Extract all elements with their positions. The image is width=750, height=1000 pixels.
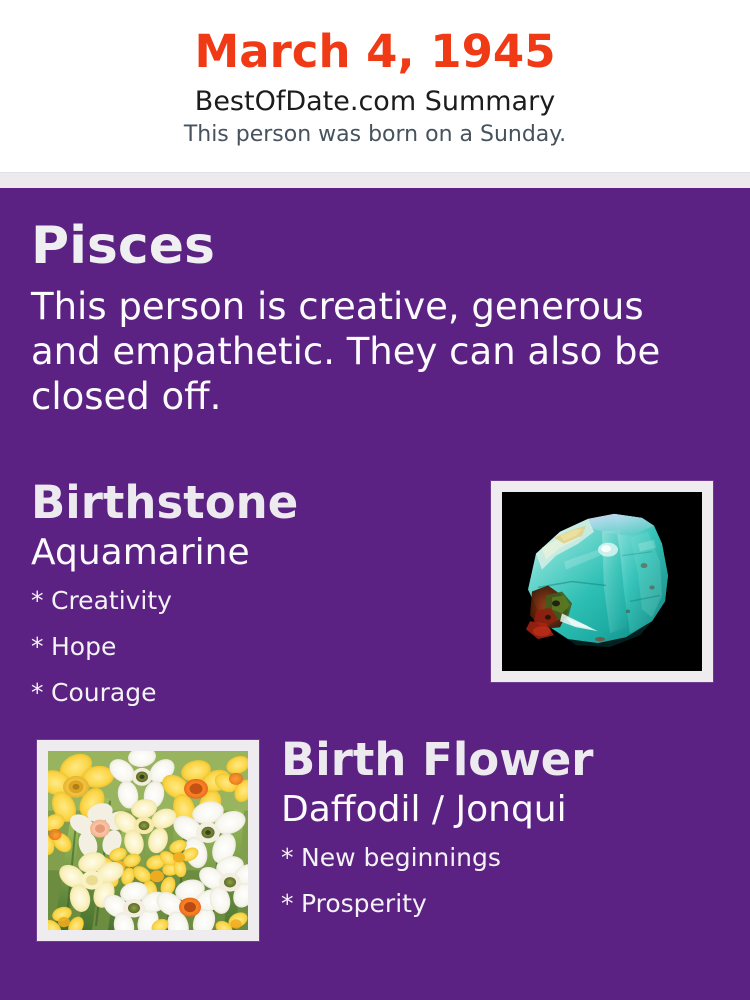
bullet-marker-icon: *	[31, 624, 51, 670]
list-item: *Hope	[31, 624, 481, 670]
page-title: March 4, 1945	[0, 0, 750, 79]
birth-day-note: This person was born on a Sunday.	[0, 118, 750, 149]
bullet-marker-icon: *	[31, 578, 51, 624]
summary-card: March 4, 1945 BestOfDate.com Summary Thi…	[0, 0, 750, 1000]
list-item: *Creativity	[31, 578, 481, 624]
birthstone-section: Birthstone Aquamarine *Creativity *Hope …	[31, 477, 481, 716]
trait-label: Hope	[51, 632, 116, 661]
birth-flower-name: Daffodil / Jonqui	[281, 786, 741, 831]
list-item: *Prosperity	[281, 881, 741, 927]
header: March 4, 1945 BestOfDate.com Summary Thi…	[0, 0, 750, 172]
zodiac-section: Pisces This person is creative, generous…	[31, 217, 721, 419]
bullet-marker-icon: *	[31, 670, 51, 716]
birthstone-traits-list: *Creativity *Hope *Courage	[31, 574, 481, 716]
zodiac-sign-name: Pisces	[31, 217, 721, 275]
birth-flower-traits-list: *New beginnings *Prosperity	[281, 831, 741, 927]
site-subtitle: BestOfDate.com Summary	[0, 79, 750, 118]
trait-label: Courage	[51, 678, 156, 707]
birthstone-image-frame	[491, 481, 713, 682]
birthstone-image	[502, 492, 702, 671]
bullet-marker-icon: *	[281, 881, 301, 927]
content-panel: Pisces This person is creative, generous…	[0, 188, 750, 1000]
trait-label: Creativity	[51, 586, 172, 615]
aquamarine-crystal-icon	[502, 492, 702, 671]
birthstone-name: Aquamarine	[31, 529, 481, 574]
bullet-marker-icon: *	[281, 835, 301, 881]
trait-label: Prosperity	[301, 889, 427, 918]
birth-flower-image	[48, 751, 248, 930]
birthstone-heading: Birthstone	[31, 477, 481, 529]
daffodil-flowers-icon	[48, 751, 248, 930]
birth-flower-section: Birth Flower Daffodil / Jonqui *New begi…	[281, 734, 741, 927]
list-item: *New beginnings	[281, 835, 741, 881]
zodiac-description: This person is creative, generous and em…	[31, 275, 701, 419]
trait-label: New beginnings	[301, 843, 501, 872]
birth-flower-heading: Birth Flower	[281, 734, 741, 786]
birth-flower-image-frame	[37, 740, 259, 941]
list-item: *Courage	[31, 670, 481, 716]
header-divider	[0, 172, 750, 188]
